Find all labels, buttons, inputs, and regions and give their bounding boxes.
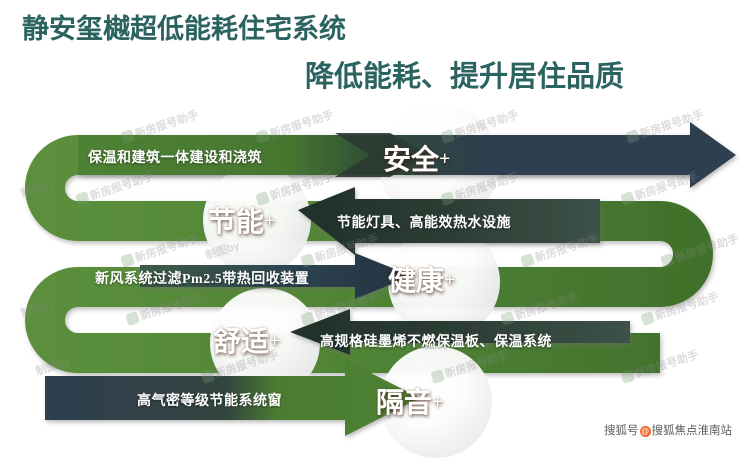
row-soundproof-plus: + — [432, 391, 443, 413]
row-energy-keyword: 节能+ — [208, 200, 275, 240]
row-safety-keyword: 安全+ — [383, 138, 450, 178]
page-subtitle: 降低能耗、提升居住品质 — [305, 53, 624, 95]
row-safety-plus: + — [439, 148, 450, 170]
row-energy-plus: + — [264, 210, 275, 232]
row-health-keyword-text: 健康 — [388, 266, 444, 297]
row-energy-description: 节能灯具、高能效热水设施 — [337, 212, 511, 232]
row-comfort-plus: + — [269, 330, 280, 352]
row-health-keyword: 健康+ — [388, 259, 455, 299]
row-comfort-keyword: 舒适+ — [213, 320, 280, 360]
credit-prefix: 搜狐号 — [604, 425, 639, 437]
at-icon: @ — [640, 426, 651, 437]
row-energy-keyword-text: 节能 — [208, 207, 264, 238]
row-health-plus: + — [444, 269, 455, 291]
row-comfort-description: 高规格硅墨烯不燃保温板、保温系统 — [320, 331, 552, 351]
slide-canvas: 静安玺樾超低能耗住宅系统 降低能耗、提升居住品质 保温和建筑一体建设和浇筑 安全… — [0, 0, 740, 450]
row-soundproof-keyword: 隔音+ — [376, 381, 443, 421]
row-safety-description: 保温和建筑一体建设和浇筑 — [88, 147, 262, 167]
row-soundproof-keyword-text: 隔音 — [376, 388, 432, 419]
row-health-description: 新风系统过滤Pm2.5带热回收装置 — [95, 268, 309, 288]
source-credit: 搜狐号@搜狐焦点淮南站 — [604, 422, 732, 438]
row-comfort-keyword-text: 舒适 — [213, 327, 269, 358]
page-title: 静安玺樾超低能耗住宅系统 — [22, 7, 346, 46]
row-soundproof-description: 高气密等级节能系统窗 — [137, 390, 282, 410]
credit-account: 搜狐焦点淮南站 — [652, 425, 733, 437]
row-safety-keyword-text: 安全 — [383, 145, 439, 176]
